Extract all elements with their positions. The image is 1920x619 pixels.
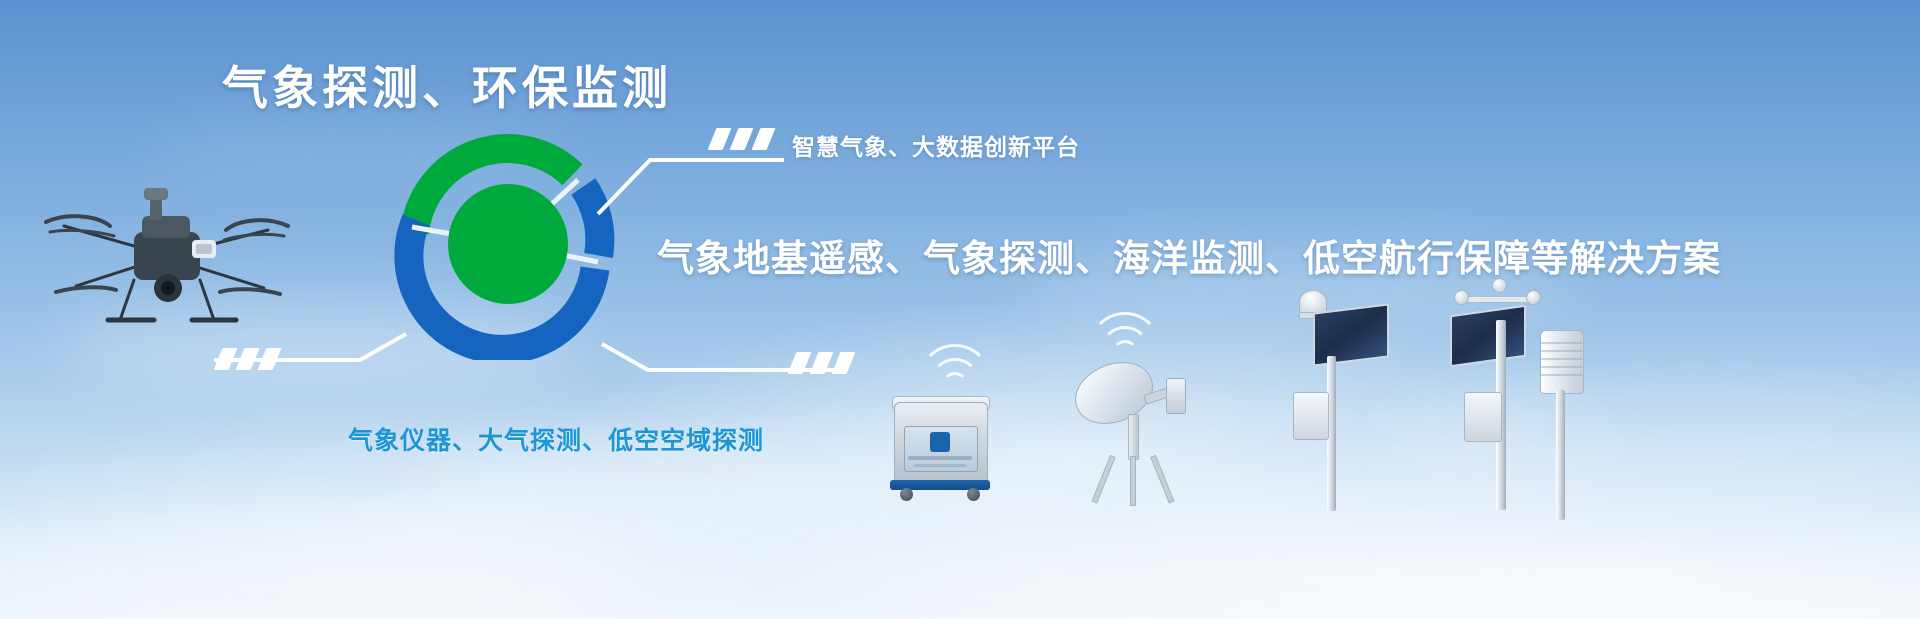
instrument-cart-icon — [890, 392, 990, 500]
signal-waves-icon — [1082, 300, 1162, 360]
slash-marks-top — [712, 128, 771, 150]
donut-ring-diagram — [392, 128, 624, 360]
signal-waves-icon — [912, 332, 992, 392]
drone-icon — [42, 160, 292, 340]
callout-text-top: 智慧气象、大数据创新平台 — [792, 128, 1080, 162]
cylinder-sensor-icon — [1528, 330, 1598, 520]
callout-text-bottom: 气象仪器、大气探测、低空空域探测 — [348, 421, 764, 457]
slash-marks-left — [218, 348, 277, 370]
solar-weather-station-icon — [1275, 300, 1385, 515]
satellite-dish-icon — [1070, 360, 1200, 505]
page-title: 气象探测、环保监测 — [222, 52, 672, 118]
slash-marks-right — [792, 352, 851, 374]
cloud-wisp — [800, 520, 1700, 619]
callout-text-main: 气象地基遥感、气象探测、海洋监测、低空航行保障等解决方案 — [657, 228, 1721, 282]
cloud-wisp — [0, 520, 640, 619]
weather-monitoring-banner: 气象探测、环保监测 智慧气象、大数据创新平台 — [0, 0, 1920, 619]
